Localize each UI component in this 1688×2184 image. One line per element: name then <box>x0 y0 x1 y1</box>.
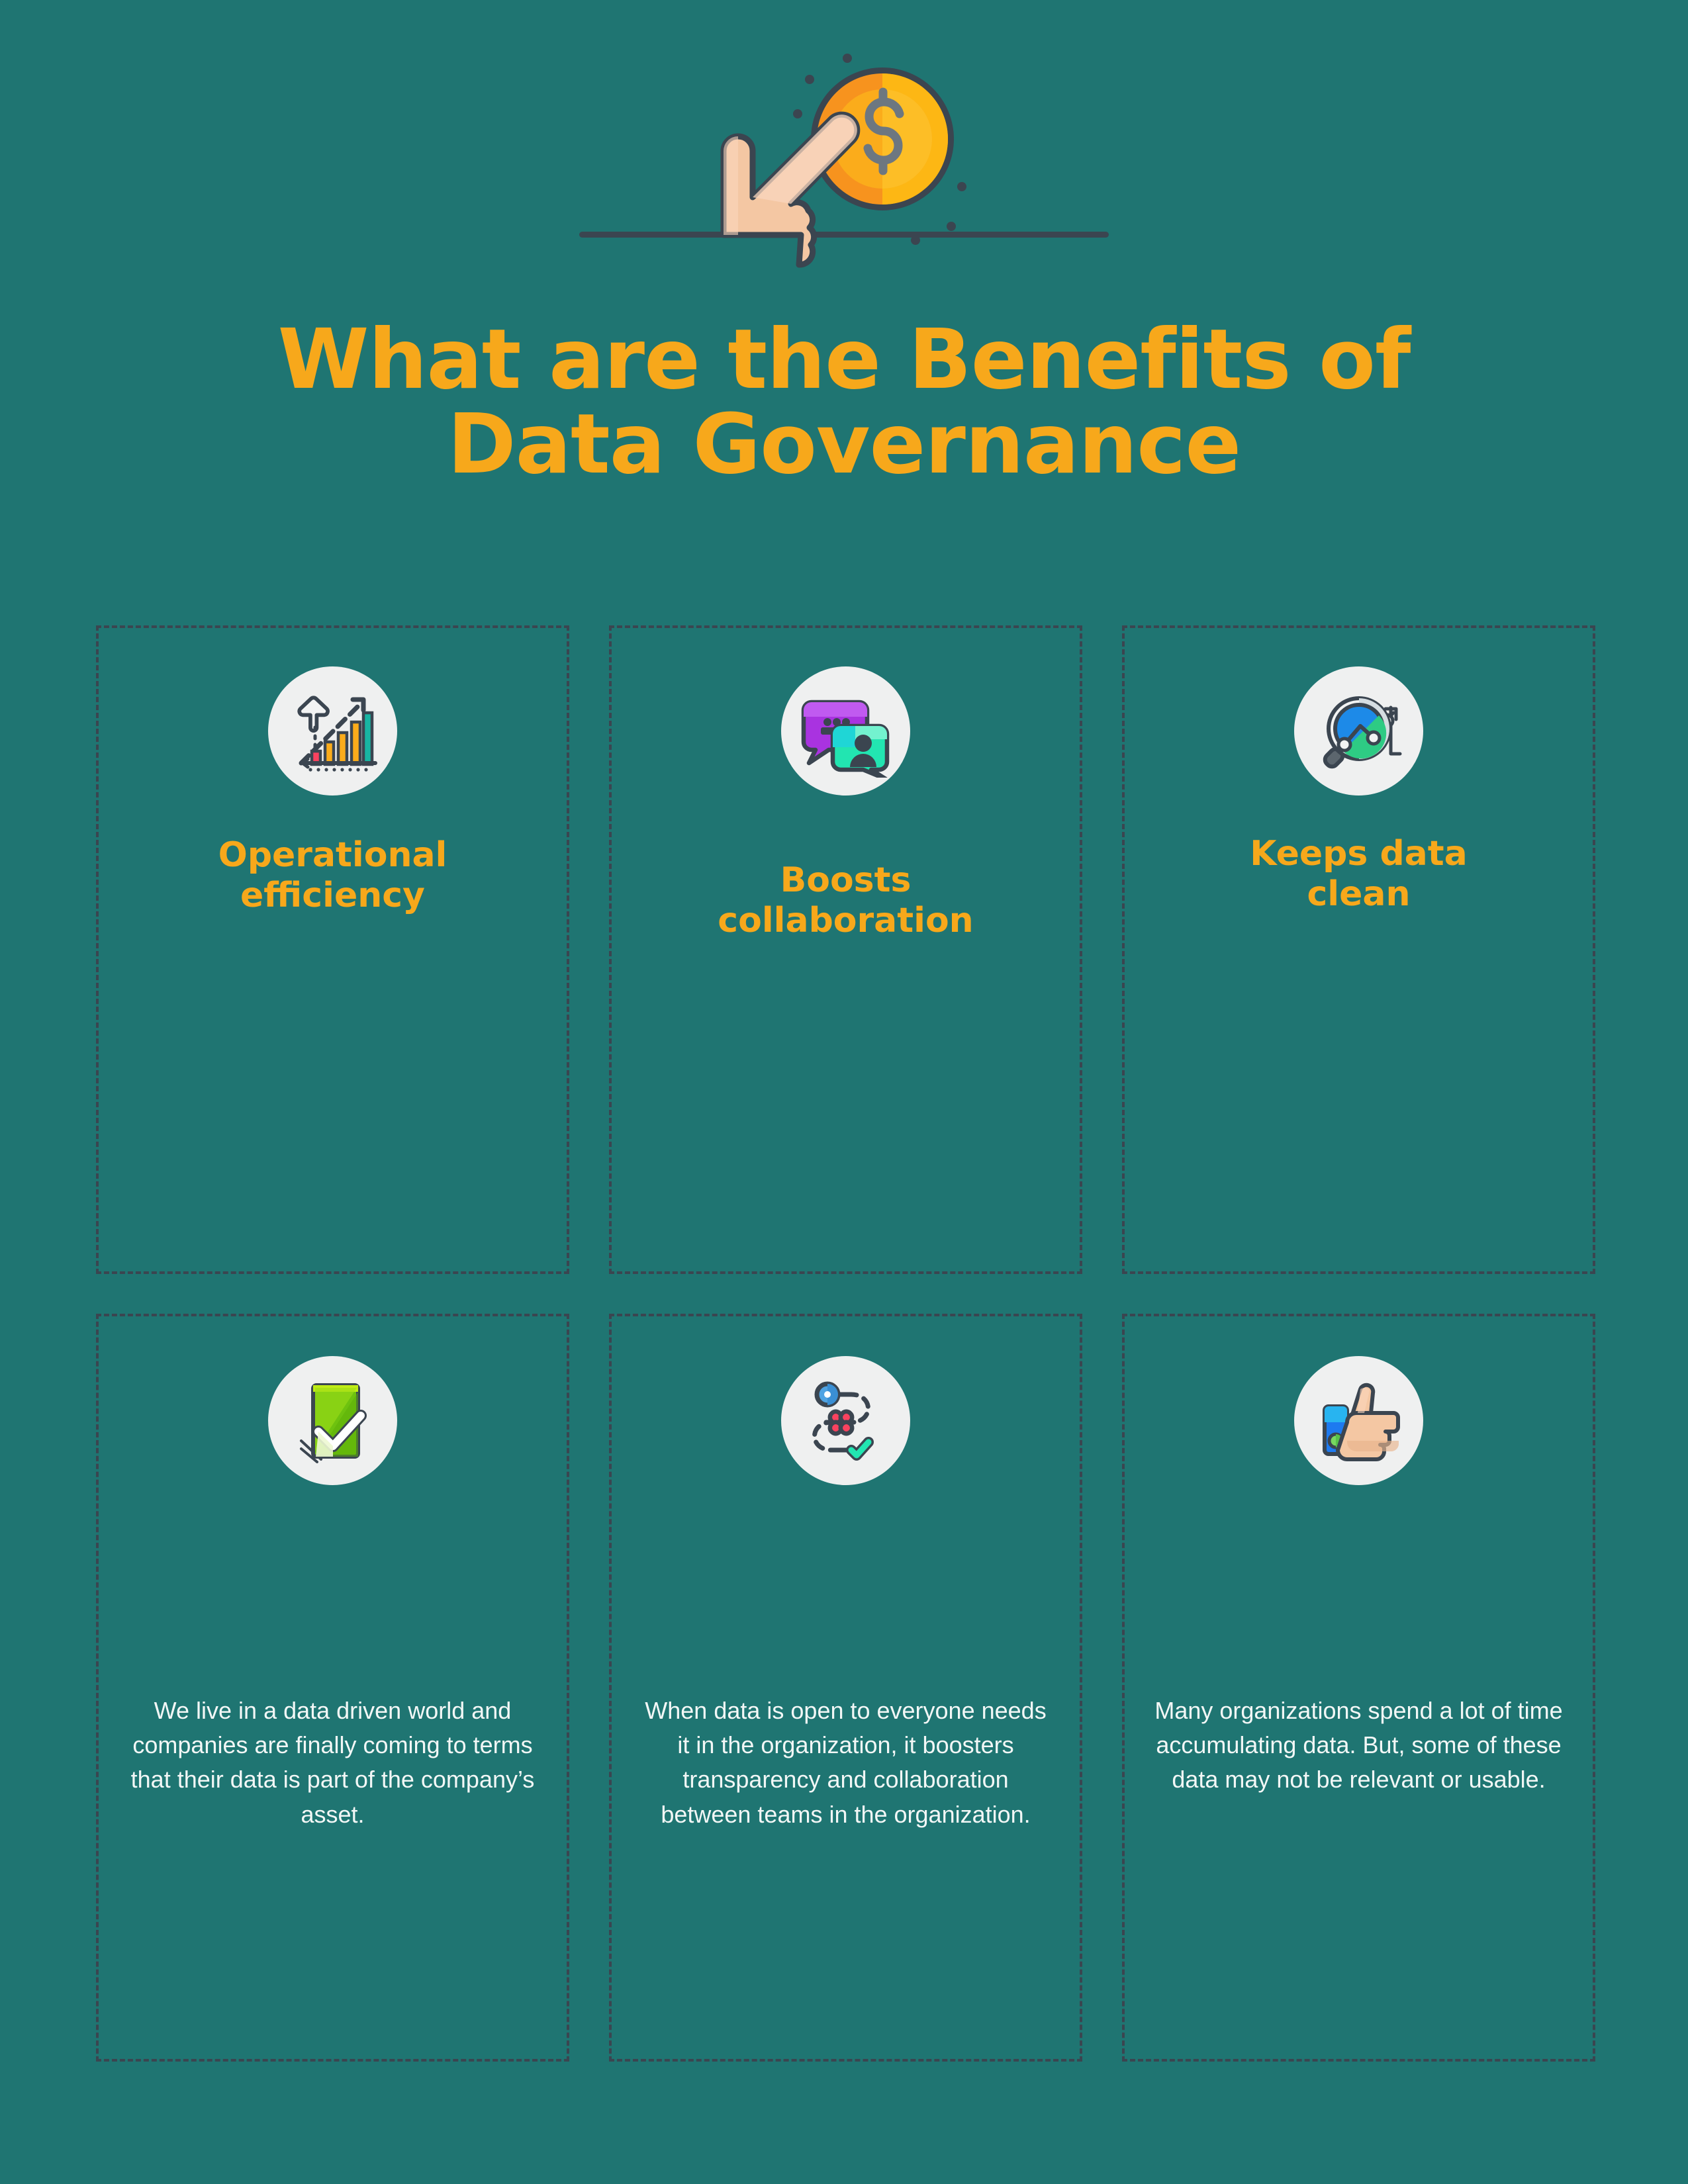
card-heading-line-1: Operational <box>218 835 447 875</box>
infographic-page: What are the Benefits of Data Governance <box>0 0 1688 2184</box>
card-heading-line-2: collaboration <box>718 901 973 940</box>
benefit-card-transparency[interactable]: When data is open to everyone needs it i… <box>609 1314 1082 2062</box>
thumbs-up-icon <box>1294 1356 1423 1485</box>
hero-illustration <box>0 40 1688 304</box>
benefits-row-bottom: We live in a data driven world and compa… <box>96 1314 1595 2062</box>
card-heading-line-2: efficiency <box>240 876 425 915</box>
card-body-text: Many organizations spend a lot of time a… <box>1125 1694 1593 1797</box>
benefit-card-boosts-collaboration[interactable]: Boosts collaboration <box>609 625 1082 1274</box>
green-card-checkmark-icon <box>268 1356 397 1485</box>
card-heading-line-1: Boosts <box>780 860 912 900</box>
benefit-card-data-asset[interactable]: We live in a data driven world and compa… <box>96 1314 569 2062</box>
benefits-grid: Operational efficiency <box>96 625 1595 2081</box>
bar-chart-growth-icon <box>268 666 397 796</box>
benefit-card-operational-efficiency[interactable]: Operational efficiency <box>96 625 569 1274</box>
magnifying-glass-chart-icon <box>1294 666 1423 796</box>
card-heading: Keeps data clean <box>1125 834 1593 915</box>
benefit-card-keeps-data-clean[interactable]: Keeps data clean <box>1122 625 1595 1274</box>
speech-bubbles-collaboration-icon <box>781 666 910 796</box>
hand-pointing-at-dollar-coin-icon <box>573 40 1115 304</box>
card-heading-line-1: Keeps data <box>1250 834 1467 874</box>
card-heading-line-2: clean <box>1307 874 1410 914</box>
benefit-card-relevant-data[interactable]: Many organizations spend a lot of time a… <box>1122 1314 1595 2062</box>
benefits-row-top: Operational efficiency <box>96 625 1595 1274</box>
card-heading: Operational efficiency <box>99 835 567 917</box>
page-title-line-1: What are the Benefits of <box>0 318 1688 402</box>
card-body-text: We live in a data driven world and compa… <box>99 1694 567 1832</box>
card-body-text: When data is open to everyone needs it i… <box>612 1694 1080 1832</box>
card-heading: Boosts collaboration <box>612 860 1080 942</box>
page-title: What are the Benefits of Data Governance <box>0 318 1688 486</box>
dashed-path-checkmark-icon <box>781 1356 910 1485</box>
page-title-line-2: Data Governance <box>0 402 1688 487</box>
